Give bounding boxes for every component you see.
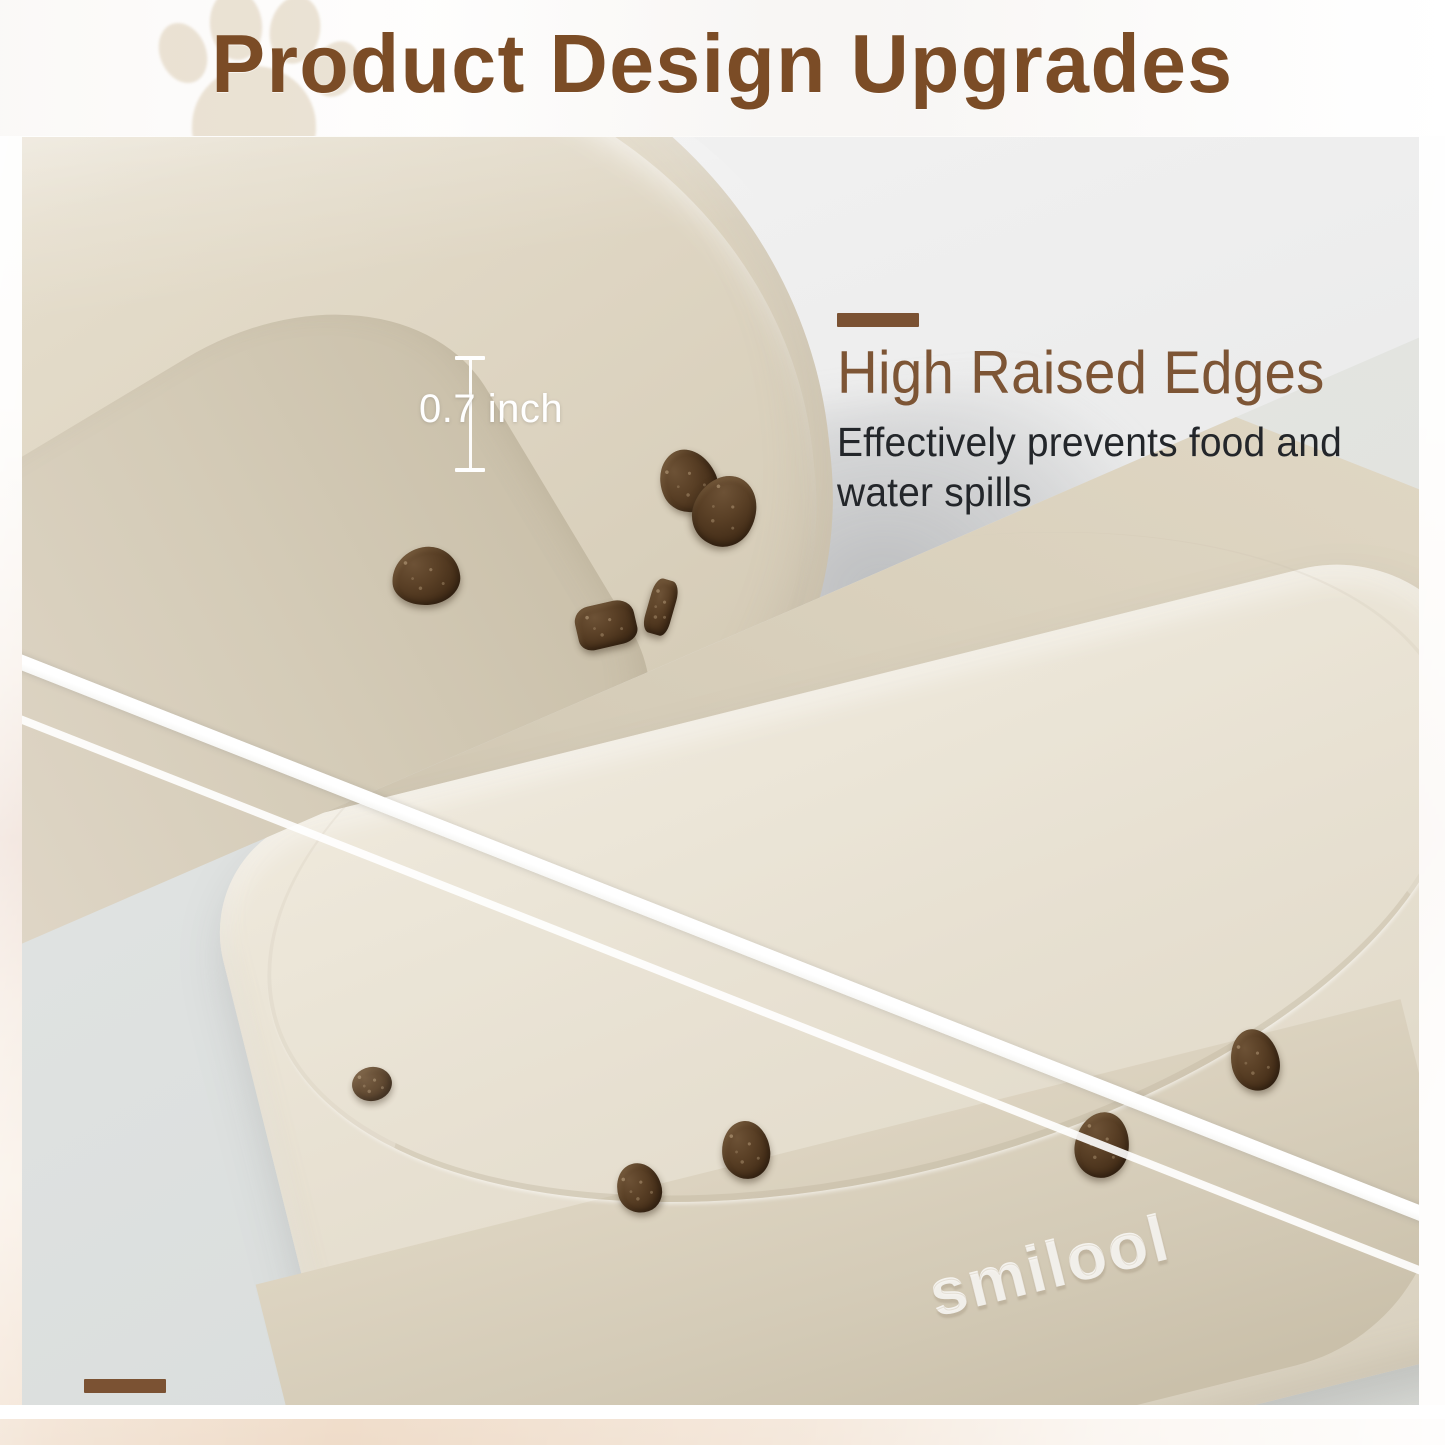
product-infographic: Product Design Upgrades 0.7 inch: [0, 0, 1445, 1445]
dimension-label: 0.7 inch: [419, 387, 563, 432]
header-banner: Product Design Upgrades: [0, 0, 1445, 136]
feature-title: High Raised Edges: [837, 341, 1384, 405]
feature-block-high-raised-edges: High Raised Edges Effectively prevents f…: [837, 313, 1419, 517]
feature-subtitle: Effectively prevents food and water spil…: [837, 417, 1390, 517]
accent-bar-icon: [84, 1379, 166, 1393]
page-title: Product Design Upgrades: [22, 0, 1424, 136]
bottom-white-gap: [0, 1405, 1445, 1419]
accent-bar-icon: [837, 313, 919, 327]
product-photo-collage: 0.7 inch smilool High Raised Edges Effec…: [22, 137, 1419, 1405]
feature-block-keeping-floor-clean: Keeping the floor clean Minimizes time s…: [84, 1379, 961, 1405]
